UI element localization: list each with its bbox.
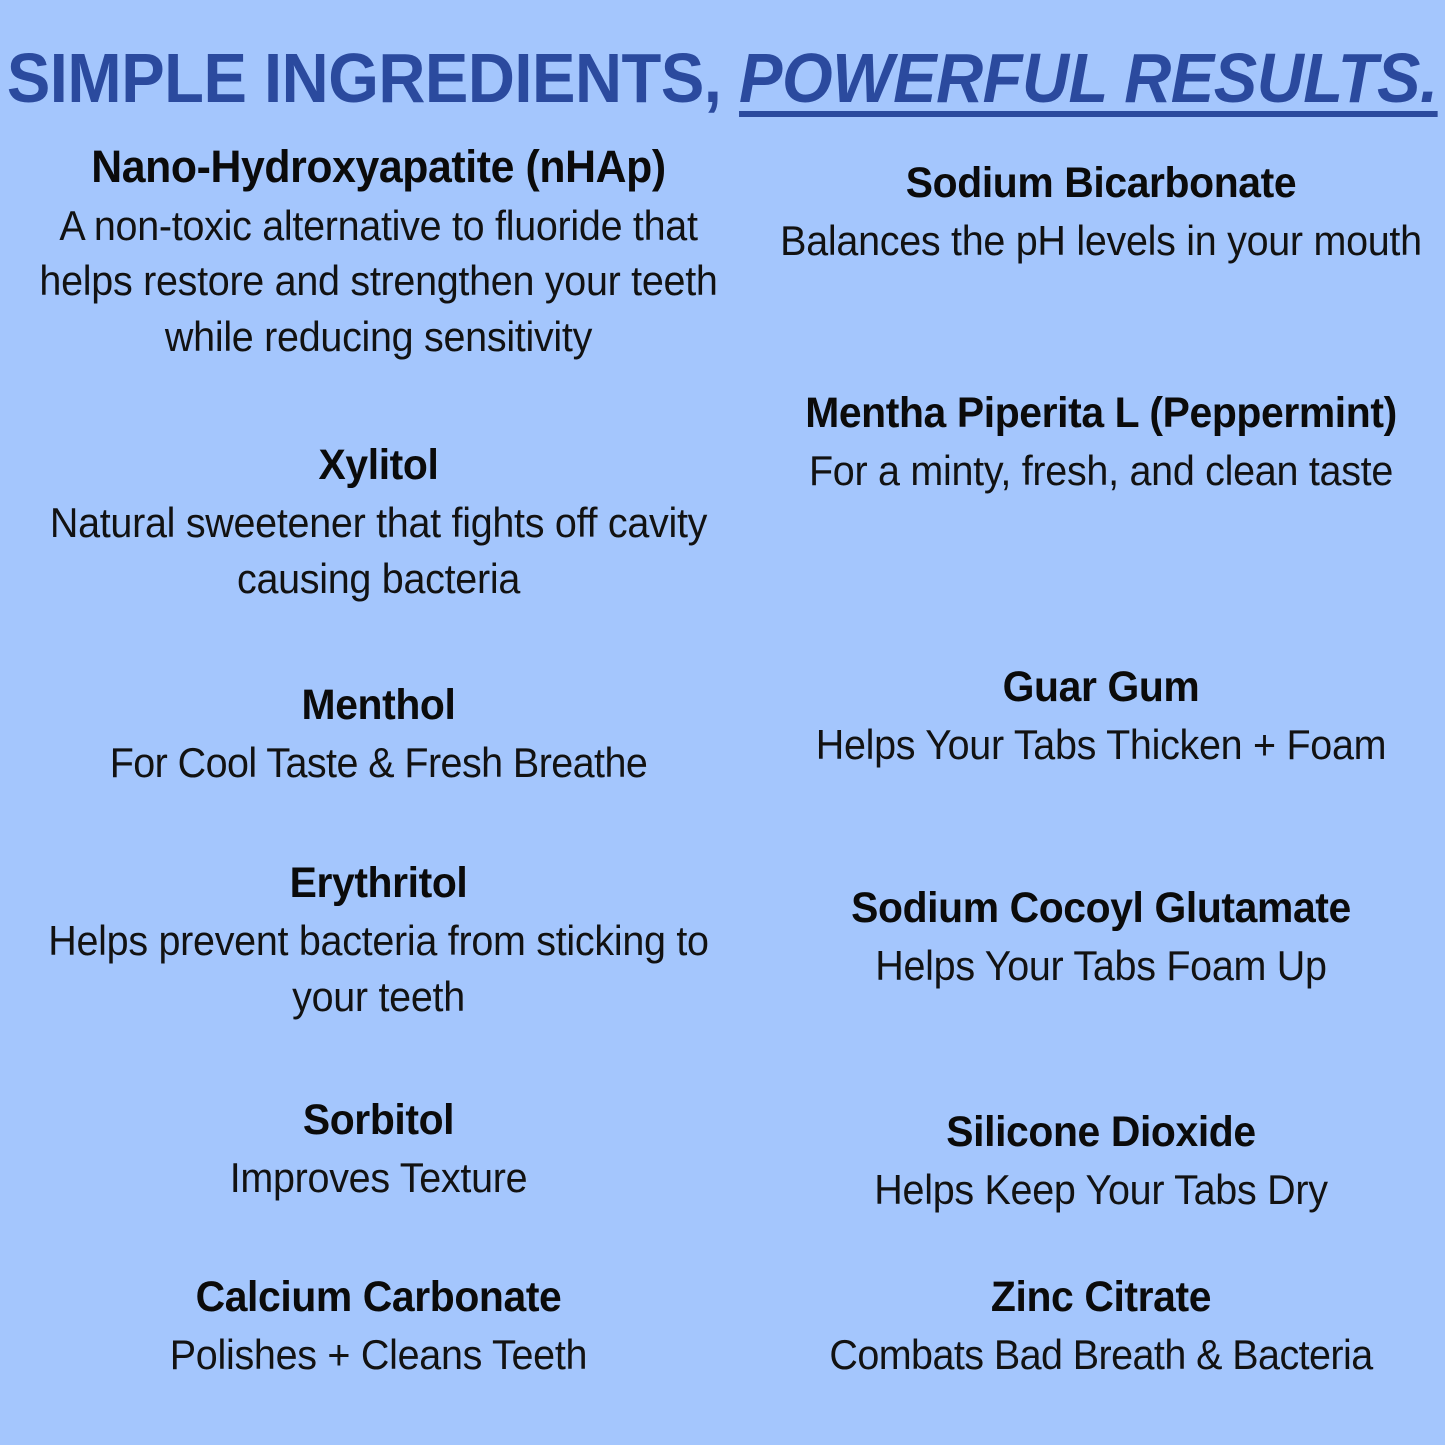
title-segment-emphasis: POWERFUL RESULTS.: [739, 39, 1438, 117]
ingredient-item-erythritol: Erythritol Helps prevent bacteria from s…: [0, 856, 757, 1025]
ingredient-name: Silicone Dioxide: [774, 1105, 1428, 1160]
ingredient-item-calcium-carbonate: Calcium Carbonate Polishes + Cleans Teet…: [0, 1270, 757, 1383]
ingredient-item-zinc-citrate: Zinc Citrate Combats Bad Breath & Bacter…: [757, 1270, 1445, 1383]
ingredient-name: Mentha Piperita L (Peppermint): [774, 386, 1428, 441]
ingredients-infographic: SIMPLE INGREDIENTS, POWERFUL RESULTS. Na…: [0, 0, 1445, 1445]
ingredient-item-sorbitol: Sorbitol Improves Texture: [0, 1093, 757, 1206]
ingredient-description: Balances the pH levels in your mouth: [778, 213, 1425, 269]
ingredient-name: Erythritol: [19, 856, 738, 911]
page-title: SIMPLE INGREDIENTS, POWERFUL RESULTS.: [0, 34, 1445, 122]
ingredient-description: Helps Keep Your Tabs Dry: [778, 1162, 1425, 1218]
ingredients-column-left: Nano-Hydroxyapatite (nHAp) A non-toxic a…: [0, 138, 757, 1445]
title-text: SIMPLE INGREDIENTS, POWERFUL RESULTS.: [7, 43, 1438, 113]
ingredient-name: Menthol: [19, 678, 738, 733]
ingredient-name: Xylitol: [19, 438, 738, 493]
ingredient-name: Calcium Carbonate: [19, 1270, 738, 1325]
ingredients-column-right: Sodium Bicarbonate Balances the pH level…: [757, 138, 1445, 1445]
ingredient-description: Helps Your Tabs Thicken + Foam: [778, 717, 1425, 773]
ingredient-description: Improves Texture: [23, 1150, 735, 1206]
ingredient-item-nano-hydroxyapatite: Nano-Hydroxyapatite (nHAp) A non-toxic a…: [0, 138, 757, 365]
ingredient-description: For a minty, fresh, and clean taste: [778, 443, 1425, 499]
ingredient-description: For Cool Taste & Fresh Breathe: [23, 735, 735, 791]
ingredient-item-xylitol: Xylitol Natural sweetener that fights of…: [0, 438, 757, 607]
ingredient-description: Helps prevent bacteria from sticking to …: [23, 913, 735, 1025]
ingredient-description: Helps Your Tabs Foam Up: [778, 938, 1425, 994]
ingredient-description: A non-toxic alternative to fluoride that…: [23, 198, 735, 366]
ingredient-item-guar-gum: Guar Gum Helps Your Tabs Thicken + Foam: [757, 660, 1445, 773]
ingredient-description: Natural sweetener that fights off cavity…: [23, 495, 735, 607]
ingredient-item-sodium-bicarbonate: Sodium Bicarbonate Balances the pH level…: [757, 156, 1445, 269]
ingredient-name: Zinc Citrate: [774, 1270, 1428, 1325]
ingredient-item-mentha-piperita: Mentha Piperita L (Peppermint) For a min…: [757, 386, 1445, 499]
ingredient-item-sodium-cocoyl-glutamate: Sodium Cocoyl Glutamate Helps Your Tabs …: [757, 881, 1445, 994]
ingredients-columns: Nano-Hydroxyapatite (nHAp) A non-toxic a…: [0, 138, 1445, 1445]
ingredient-name: Nano-Hydroxyapatite (nHAp): [19, 138, 738, 196]
ingredient-name: Guar Gum: [774, 660, 1428, 715]
ingredient-item-silicone-dioxide: Silicone Dioxide Helps Keep Your Tabs Dr…: [757, 1105, 1445, 1218]
ingredient-item-menthol: Menthol For Cool Taste & Fresh Breathe: [0, 678, 757, 791]
ingredient-name: Sodium Cocoyl Glutamate: [774, 881, 1428, 936]
ingredient-name: Sodium Bicarbonate: [774, 156, 1428, 211]
ingredient-name: Sorbitol: [19, 1093, 738, 1148]
ingredient-description: Combats Bad Breath & Bacteria: [778, 1327, 1425, 1383]
ingredient-description: Polishes + Cleans Teeth: [23, 1327, 735, 1383]
title-segment-plain: SIMPLE INGREDIENTS,: [7, 39, 739, 117]
